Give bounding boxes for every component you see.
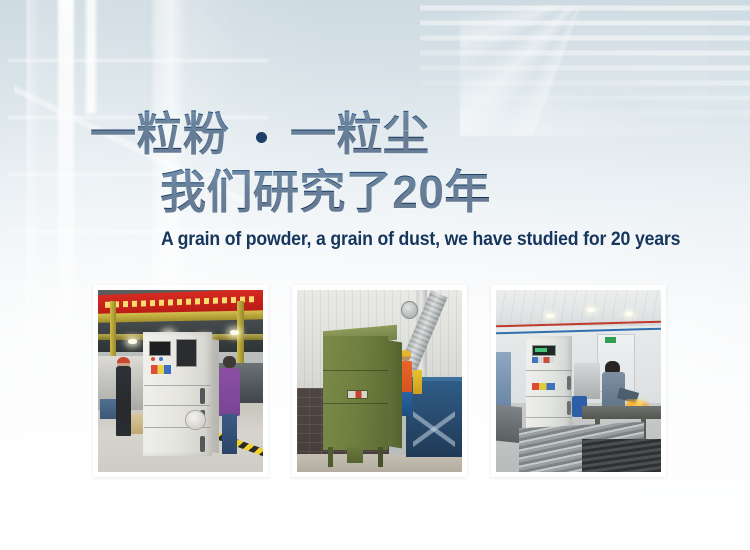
photo3-workbench — [582, 406, 661, 419]
gallery-photo-card-1[interactable] — [93, 285, 268, 477]
gallery-photo-card-2[interactable] — [292, 285, 467, 477]
photo1-door-handle-1 — [200, 388, 205, 404]
photo2-duct-elbow — [401, 301, 418, 319]
photo2-collector-seam-2 — [323, 403, 387, 404]
photo1-lamp-1 — [128, 339, 137, 344]
photo3-cabinet-sticker — [532, 383, 555, 390]
photo3-left-panel — [496, 352, 511, 407]
photo3-cabinet-display — [532, 345, 555, 356]
gallery-photo-1 — [98, 290, 263, 472]
photo3-cabinet-seam-1 — [526, 370, 572, 371]
photo2-leg-left — [328, 447, 333, 467]
headline-subtitle: A grain of powder, a grain of dust, we h… — [161, 229, 680, 251]
photo3-cabinet-buttons — [532, 357, 553, 362]
photo1-inspection-port — [185, 410, 205, 430]
photo3-cabinet-seam-3 — [526, 417, 572, 418]
photo3-cabinet-seam-2 — [526, 396, 572, 397]
photo2-leg-right — [378, 447, 383, 467]
photo1-worker-left-body — [116, 366, 131, 435]
photo3-background-machine — [574, 363, 600, 399]
photo1-door-handle-3 — [200, 436, 205, 452]
gallery-photo-3 — [496, 290, 661, 472]
photo2-scissor-arms — [413, 410, 456, 446]
photo1-brand-sticker — [151, 365, 171, 374]
photo1-worker-right-head — [223, 356, 235, 369]
photo3-metal-bars-dark — [582, 439, 661, 472]
photo1-worker-right-body — [218, 368, 239, 415]
photo3-lamp-1 — [546, 314, 554, 318]
promo-banner: 一粒粉 一粒尘 我们研究了20年 A grain of powder, a gr… — [0, 0, 750, 550]
photo1-panel-seam-2 — [144, 405, 210, 406]
photo2-nameplate — [347, 390, 369, 399]
photo1-control-panel — [149, 341, 171, 356]
photo1-worker-right-legs — [222, 414, 237, 454]
photo1-panel-seam-1 — [144, 385, 210, 386]
photo2-worker-secondary — [413, 370, 423, 394]
gallery-photo-2 — [297, 290, 462, 472]
headline-line-1-right: 一粒尘 — [290, 108, 429, 160]
dot-separator-icon — [256, 132, 267, 143]
headline-line-1-left: 一粒粉 — [90, 108, 229, 160]
photo2-hopper — [347, 447, 364, 463]
photo1-lamp-4 — [230, 330, 239, 335]
photo2-collector-seam-1 — [323, 370, 387, 371]
gallery-photo-card-3[interactable] — [491, 285, 666, 477]
photo1-inverter-panel — [176, 339, 198, 366]
photo3-exit-sign — [605, 337, 617, 342]
photo3-lamp-3 — [625, 312, 633, 316]
headline-line-2: 我们研究了20年 — [160, 166, 491, 218]
photo3-cabinet-handle-1 — [567, 376, 571, 390]
photo-gallery — [93, 285, 667, 477]
photo2-worker-legs — [401, 390, 413, 415]
photo3-cabinet-handle-2 — [567, 401, 571, 415]
photo3-lamp-2 — [587, 308, 595, 312]
